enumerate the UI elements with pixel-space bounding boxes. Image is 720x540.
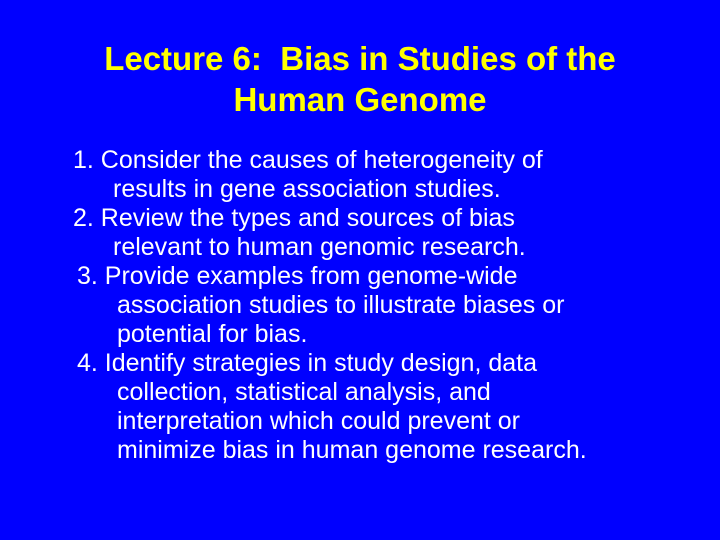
list-item: 1. Consider the causes of heterogeneity …: [46, 146, 674, 204]
list-item-line: 4. Identify strategies in study design, …: [46, 349, 674, 378]
list-item-line: 2. Review the types and sources of bias: [46, 204, 674, 233]
list-item-line: potential for bias.: [46, 320, 674, 349]
slide-title-line-2: Human Genome: [36, 79, 684, 120]
list-item-line: 1. Consider the causes of heterogeneity …: [46, 146, 674, 175]
slide-title-line-1: Lecture 6: Bias in Studies of the: [36, 38, 684, 79]
list-item: 2. Review the types and sources of bias …: [46, 204, 674, 262]
list-item-line: association studies to illustrate biases…: [46, 291, 674, 320]
slide-title: Lecture 6: Bias in Studies of the Human …: [36, 38, 684, 120]
list-item-line: minimize bias in human genome research.: [46, 436, 674, 465]
list-item-line: collection, statistical analysis, and: [46, 378, 674, 407]
presentation-slide: Lecture 6: Bias in Studies of the Human …: [0, 0, 720, 540]
list-item-line: interpretation which could prevent or: [46, 407, 674, 436]
list-item-line: results in gene association studies.: [46, 175, 674, 204]
list-item: 3. Provide examples from genome-wide ass…: [46, 262, 674, 349]
list-item: 4. Identify strategies in study design, …: [46, 349, 674, 465]
slide-body: 1. Consider the causes of heterogeneity …: [46, 146, 674, 465]
list-item-line: relevant to human genomic research.: [46, 233, 674, 262]
list-item-line: 3. Provide examples from genome-wide: [46, 262, 674, 291]
